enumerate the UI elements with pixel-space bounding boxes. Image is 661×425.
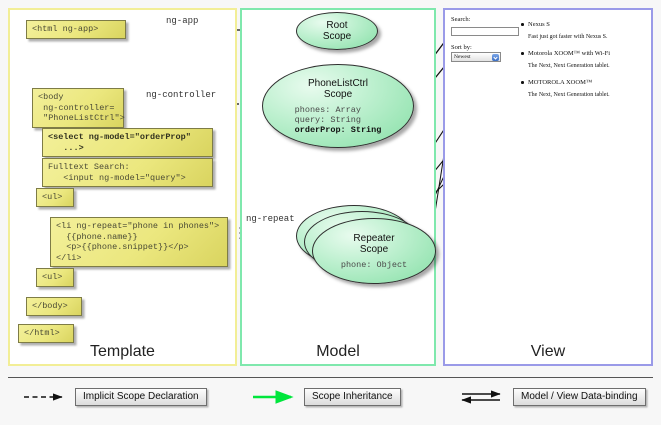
panel-view: View Search: Sort by: Newest Nexus S Fas… bbox=[443, 8, 653, 366]
phone-name: Nexus S bbox=[519, 20, 643, 29]
phone-name: MOTOROLA XOOM™ bbox=[519, 78, 643, 87]
scope-phonelistctrl-properties: phones: Array query: String orderProp: S… bbox=[295, 105, 382, 135]
connector-label-ng-controller: ng-controller bbox=[146, 90, 216, 100]
scope-property-orderprop: orderProp: String bbox=[295, 125, 382, 135]
double-arrow-icon bbox=[460, 389, 508, 405]
sort-by-select[interactable]: Newest bbox=[451, 52, 501, 62]
code-box-ul-close: <ul> bbox=[36, 268, 74, 287]
scope-root[interactable]: Root Scope bbox=[296, 12, 378, 50]
code-box-html-close: </html> bbox=[18, 324, 74, 343]
connector-label-ng-repeat: ng-repeat bbox=[246, 214, 295, 224]
scope-repeater-title: Repeater Scope bbox=[353, 233, 394, 256]
legend-item-scope-inheritance: Scope Inheritance bbox=[251, 388, 401, 406]
code-box-html-tag: <html ng-app> bbox=[26, 20, 126, 39]
phone-snippet: Fast just got faster with Nexus S. bbox=[519, 33, 643, 41]
phone-list: Nexus S Fast just got faster with Nexus … bbox=[519, 20, 643, 107]
legend-label: Scope Inheritance bbox=[304, 388, 401, 406]
scope-phonelistctrl[interactable]: PhoneListCtrl Scope phones: Array query:… bbox=[262, 64, 414, 148]
diagram-canvas: Template <html ng-app> <body ng-controll… bbox=[0, 0, 661, 425]
legend-item-model-view-data-binding: Model / View Data-binding bbox=[460, 388, 646, 406]
chevron-down-icon bbox=[492, 54, 499, 61]
legend-divider bbox=[8, 377, 653, 378]
code-box-select-tag: <select ng-model="orderProp" ...> bbox=[42, 128, 213, 157]
code-box-body-close: </body> bbox=[26, 297, 82, 316]
scope-property-phones: phones: Array bbox=[295, 105, 382, 115]
scope-repeater-properties: phone: Object bbox=[341, 260, 407, 270]
scope-root-title: Root Scope bbox=[323, 20, 351, 43]
code-box-body-tag: <body ng-controller= "PhoneListCtrl"> bbox=[32, 88, 124, 128]
panel-template-label: Template bbox=[10, 343, 235, 361]
code-box-ul-open: <ul> bbox=[36, 188, 74, 207]
connector-label-ng-app: ng-app bbox=[166, 16, 198, 26]
legend-label: Implicit Scope Declaration bbox=[75, 388, 207, 406]
list-item[interactable]: MOTOROLA XOOM™ The Next, Next Generation… bbox=[519, 78, 643, 99]
view-app-preview: Search: Sort by: Newest Nexus S Fast jus… bbox=[451, 16, 647, 350]
panel-model: Model bbox=[240, 8, 436, 366]
phone-snippet: The Next, Next Generation tablet. bbox=[519, 62, 643, 70]
code-box-li-repeat: <li ng-repeat="phone in phones"> {{phone… bbox=[50, 217, 228, 267]
code-box-input-tag: Fulltext Search: <input ng-model="query"… bbox=[42, 158, 213, 187]
dashed-arrow-icon bbox=[22, 389, 70, 405]
scope-property-phone: phone: Object bbox=[341, 260, 407, 270]
phone-name: Motorola XOOM™ with Wi-Fi bbox=[519, 49, 643, 58]
scope-repeater[interactable]: Repeater Scope phone: Object bbox=[312, 218, 436, 284]
list-item[interactable]: Nexus S Fast just got faster with Nexus … bbox=[519, 20, 643, 41]
list-item[interactable]: Motorola XOOM™ with Wi-Fi The Next, Next… bbox=[519, 49, 643, 70]
phone-snippet: The Next, Next Generation tablet. bbox=[519, 91, 643, 99]
legend-item-implicit-scope-declaration: Implicit Scope Declaration bbox=[22, 388, 207, 406]
green-arrow-icon bbox=[251, 389, 299, 405]
scope-phonelistctrl-title: PhoneListCtrl Scope bbox=[308, 78, 368, 101]
legend-label: Model / View Data-binding bbox=[513, 388, 646, 406]
scope-property-query: query: String bbox=[295, 115, 382, 125]
sort-by-selected-value: Newest bbox=[454, 54, 471, 60]
search-input[interactable] bbox=[451, 27, 519, 36]
panel-model-label: Model bbox=[242, 343, 434, 361]
